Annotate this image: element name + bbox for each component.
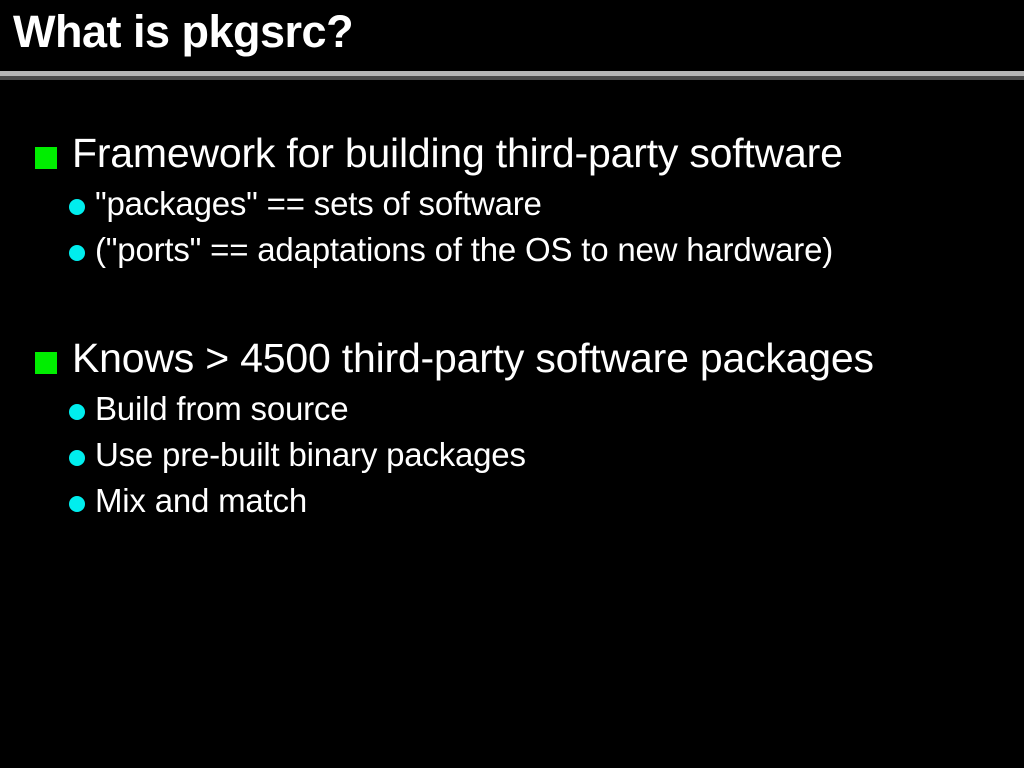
bullet-level2: Use pre-built binary packages (0, 435, 1024, 476)
square-bullet-icon (35, 147, 57, 169)
page-title: What is pkgsrc? (13, 5, 353, 58)
presentation-slide: What is pkgsrc? Framework for building t… (0, 0, 1024, 768)
bullet-group: Knows > 4500 third-party software packag… (0, 333, 1024, 522)
bullet-level2: Mix and match (0, 481, 1024, 522)
circle-bullet-icon (69, 496, 85, 512)
circle-bullet-icon (69, 199, 85, 215)
bullet-level1-label: Knows > 4500 third-party software packag… (72, 333, 1024, 383)
bullet-level2-label: Build from source (95, 389, 1024, 430)
divider-shadow (0, 76, 1024, 80)
title-divider (0, 71, 1024, 80)
bullet-group: Framework for building third-party softw… (0, 128, 1024, 271)
bullet-level2: ("ports" == adaptations of the OS to new… (0, 230, 1024, 271)
bullet-level2-label: Use pre-built binary packages (95, 435, 1024, 476)
bullet-level2: "packages" == sets of software (0, 184, 1024, 225)
bullet-level2-label: Mix and match (95, 481, 1024, 522)
circle-bullet-icon (69, 245, 85, 261)
bullet-level2-label: "packages" == sets of software (95, 184, 1024, 225)
bullet-level2-label: ("ports" == adaptations of the OS to new… (95, 230, 1024, 271)
bullet-level1-label: Framework for building third-party softw… (72, 128, 1024, 178)
bullet-level1: Framework for building third-party softw… (0, 128, 1024, 178)
bullet-level1: Knows > 4500 third-party software packag… (0, 333, 1024, 383)
circle-bullet-icon (69, 404, 85, 420)
slide-body: Framework for building third-party softw… (0, 128, 1024, 522)
square-bullet-icon (35, 352, 57, 374)
bullet-level2: Build from source (0, 389, 1024, 430)
circle-bullet-icon (69, 450, 85, 466)
